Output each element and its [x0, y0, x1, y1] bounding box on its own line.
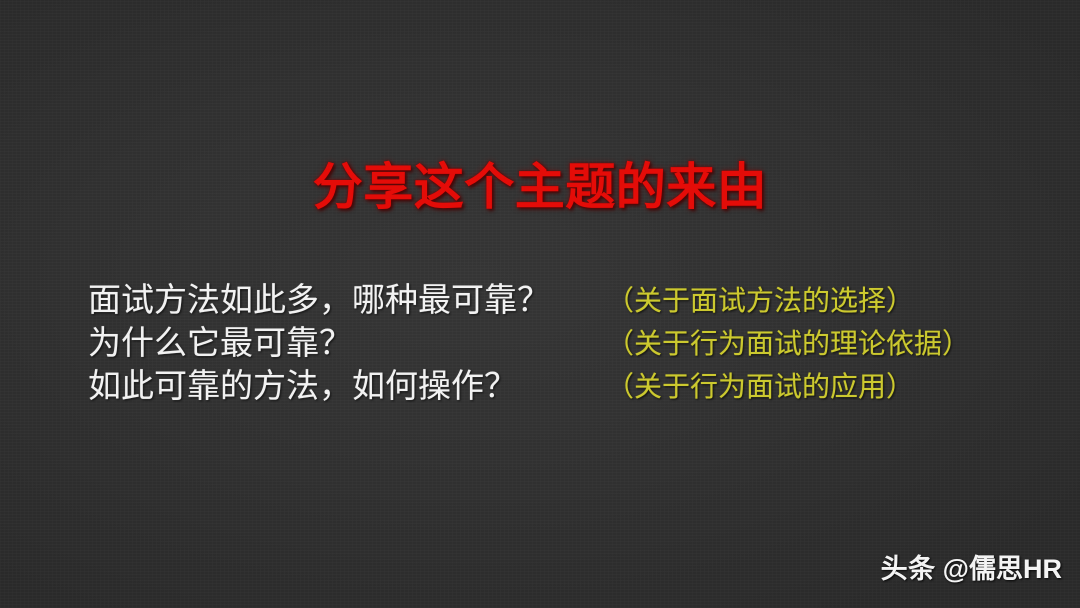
content-list: 面试方法如此多，哪种最可靠？ （关于面试方法的选择） 为什么它最可靠？ （关于行… — [88, 281, 1048, 410]
question-text: 为什么它最可靠？ — [88, 324, 352, 364]
page-title: 分享这个主题的来由 — [0, 156, 1080, 218]
presentation-slide: 分享这个主题的来由 面试方法如此多，哪种最可靠？ （关于面试方法的选择） 为什么… — [0, 0, 1080, 608]
watermark: 头条 @儒思HR — [881, 554, 1062, 584]
list-item: 面试方法如此多，哪种最可靠？ （关于面试方法的选择） — [88, 281, 1048, 324]
annotation-text: （关于面试方法的选择） — [606, 284, 914, 320]
annotation-text: （关于行为面试的应用） — [606, 370, 914, 406]
annotation-text: （关于行为面试的理论依据） — [606, 327, 970, 363]
list-item: 为什么它最可靠？ （关于行为面试的理论依据） — [88, 324, 1048, 367]
list-item: 如此可靠的方法，如何操作？ （关于行为面试的应用） — [88, 367, 1048, 410]
watermark-handle: @儒思HR — [943, 554, 1062, 584]
watermark-brand: 头条 — [881, 554, 936, 584]
question-text: 如此可靠的方法，如何操作？ — [88, 367, 517, 407]
question-text: 面试方法如此多，哪种最可靠？ — [88, 281, 550, 321]
